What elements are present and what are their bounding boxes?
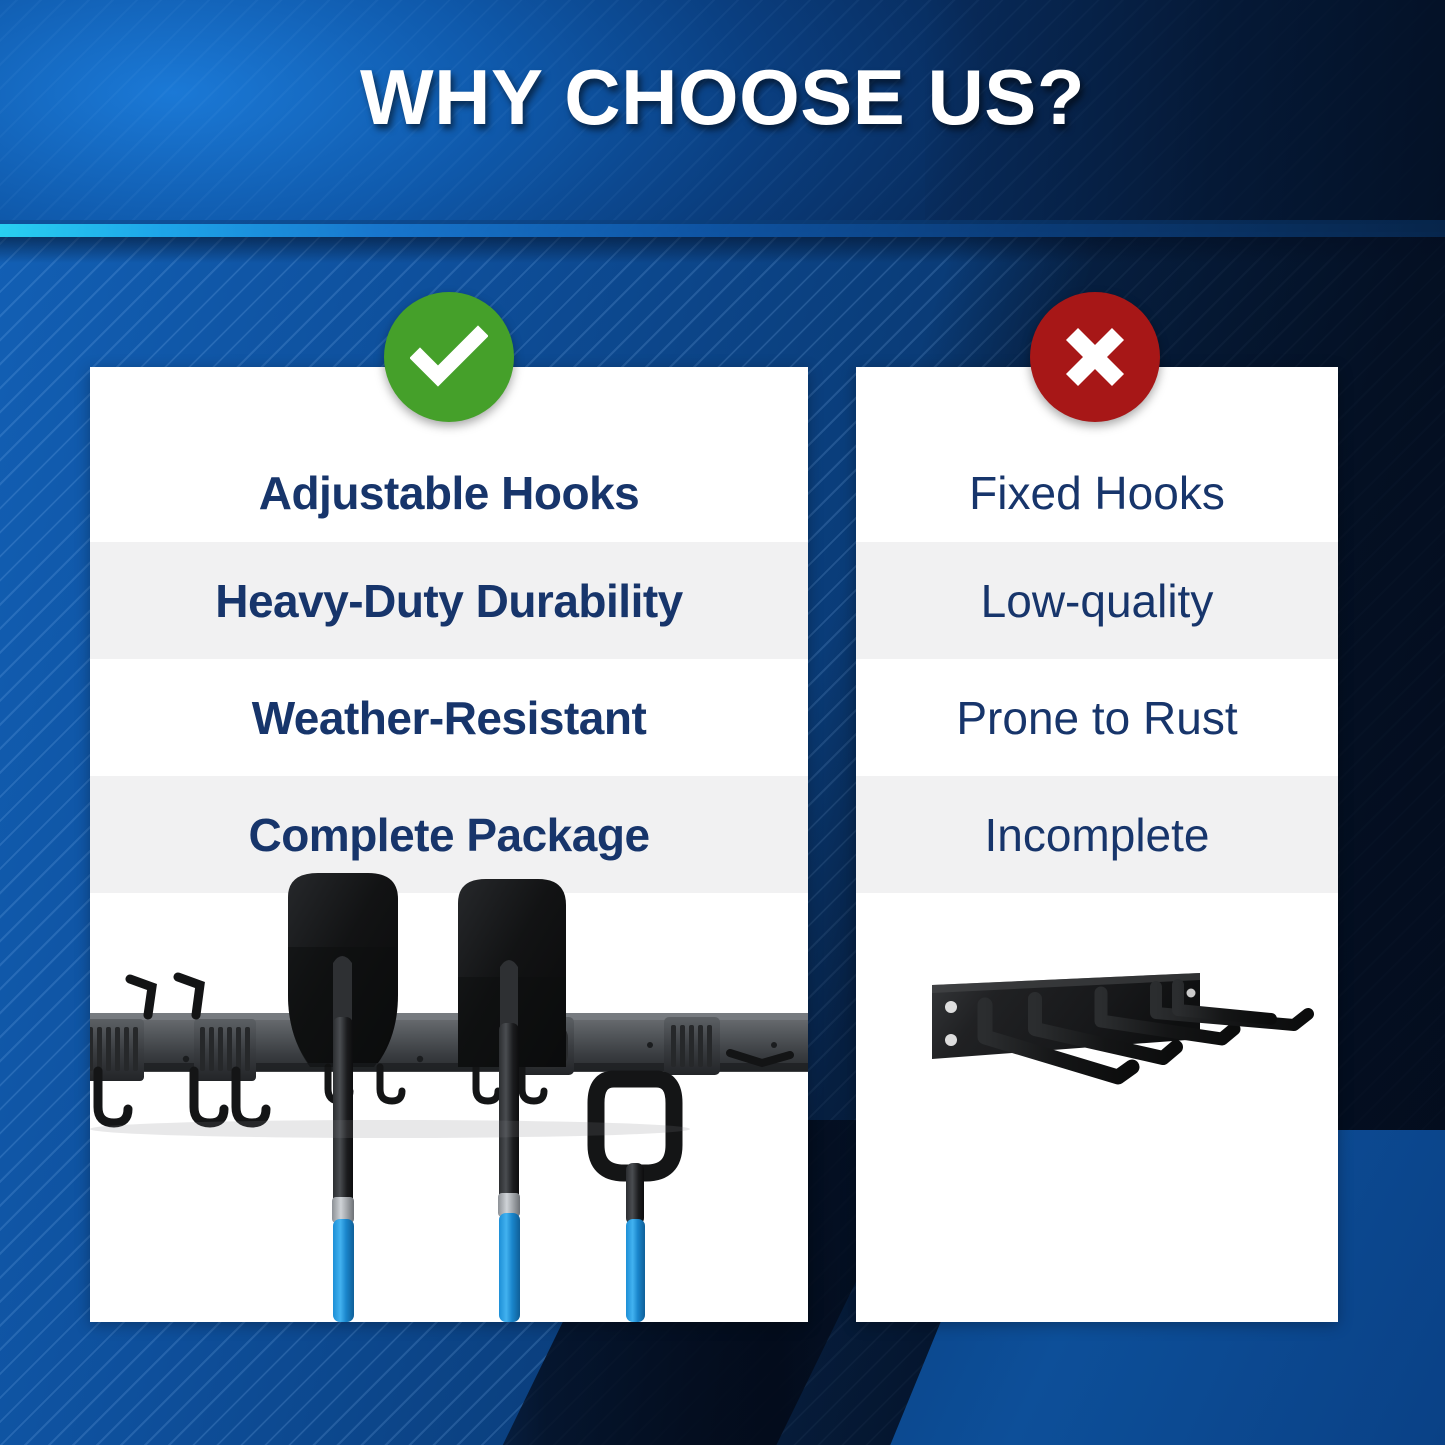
accent-bar-shadow <box>0 237 1445 263</box>
pro-product-image <box>90 867 808 1322</box>
pro-comparison-card: Adjustable Hooks Heavy-Duty Durability W… <box>90 367 808 1322</box>
check-circle-icon <box>384 292 514 422</box>
square-shovel <box>458 879 566 1322</box>
cyan-accent-bar <box>0 224 1445 237</box>
infographic-canvas: WHY CHOOSE US? Adjustable Hooks Heavy-Du… <box>0 0 1445 1445</box>
con-row-label: Incomplete <box>984 812 1209 858</box>
page-title: WHY CHOOSE US? <box>0 52 1445 143</box>
con-row: Low-quality <box>856 542 1338 659</box>
pro-row-label: Complete Package <box>248 812 649 858</box>
x-circle-icon <box>1030 292 1160 422</box>
check-mark-glyph <box>410 318 488 396</box>
con-row: Incomplete <box>856 776 1338 893</box>
con-product-image <box>856 927 1338 1267</box>
pro-row-label: Weather-Resistant <box>252 695 647 741</box>
pro-row: Weather-Resistant <box>90 659 808 776</box>
pro-row: Heavy-Duty Durability <box>90 542 808 659</box>
pro-row-label: Adjustable Hooks <box>259 470 640 516</box>
con-row-label: Low-quality <box>981 578 1214 624</box>
con-row-label: Prone to Rust <box>956 695 1237 741</box>
x-mark-glyph <box>1058 320 1132 394</box>
con-row: Prone to Rust <box>856 659 1338 776</box>
pro-row-label: Heavy-Duty Durability <box>215 578 683 624</box>
d-handle-tool <box>596 1079 674 1322</box>
con-row-label: Fixed Hooks <box>969 470 1225 516</box>
con-feature-list: Fixed Hooks Low-quality Prone to Rust In… <box>856 367 1338 893</box>
con-comparison-card: Fixed Hooks Low-quality Prone to Rust In… <box>856 367 1338 1322</box>
pro-feature-list: Adjustable Hooks Heavy-Duty Durability W… <box>90 367 808 893</box>
angled-hook <box>130 977 200 1015</box>
